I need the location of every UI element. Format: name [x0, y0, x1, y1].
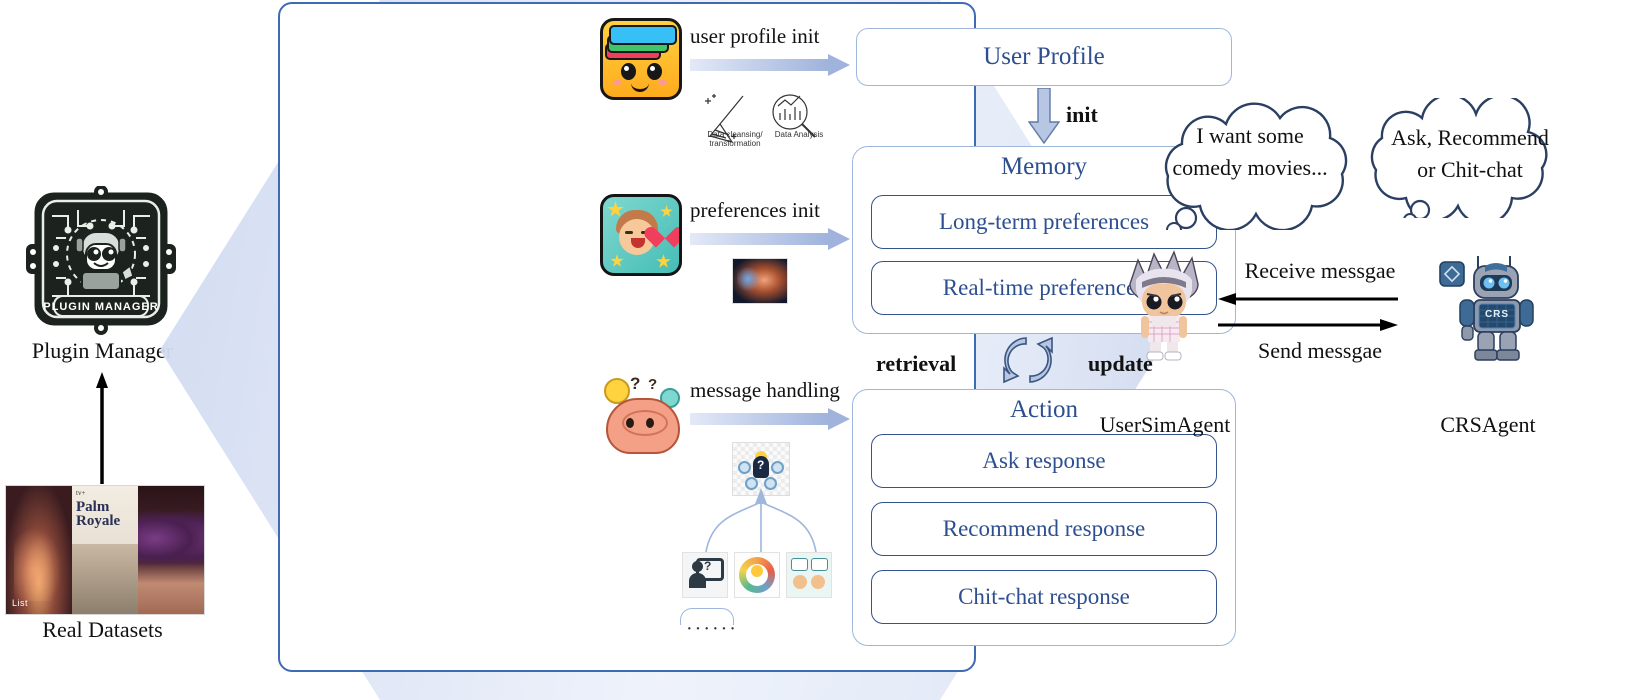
preferences-init-label: preferences init: [690, 198, 820, 223]
user-thought-line-2: comedy movies...: [1172, 155, 1327, 180]
poster-title: Palm Royale: [76, 500, 120, 528]
real-datasets-caption: Real Datasets: [0, 617, 205, 643]
ask-response-box[interactable]: Ask response: [871, 434, 1217, 488]
datasets-to-plugin-arrow: [95, 372, 109, 484]
user-sim-agent-caption: UserSimAgent: [1060, 412, 1270, 438]
crs-agent-caption: CRSAgent: [1398, 412, 1578, 438]
poster-challengers: CHALLENGERS: [138, 486, 204, 614]
crs-thought-line-1: Ask, Recommend: [1391, 125, 1549, 150]
receive-message-arrow: [1218, 292, 1398, 304]
send-message-label: Send messgae: [1230, 338, 1410, 364]
crs-badge-text: CRS: [1485, 309, 1509, 320]
message-handling-arrow: [690, 408, 850, 430]
retrieval-label: retrieval: [876, 351, 956, 377]
action-sources-connector: [676, 484, 846, 554]
init-label: init: [1066, 102, 1098, 128]
real-datasets-image: List tv+ Palm Royale CHALLENGERS: [5, 485, 205, 615]
poster-brand: tv+: [76, 489, 85, 497]
user-profile-init-label: user profile init: [690, 24, 819, 49]
recommend-response-box[interactable]: Recommend response: [871, 502, 1217, 556]
person-question-icon: [682, 552, 728, 598]
folder-face-icon: [600, 18, 682, 100]
retrieval-update-cycle-icon: [996, 332, 1060, 388]
user-profile-init-arrow: [690, 54, 850, 76]
ask-response-label: Ask response: [982, 448, 1105, 474]
user-thought-line-1: I want some: [1196, 123, 1304, 148]
poster-list-badge: List: [12, 598, 28, 608]
data-cleansing-note: Data cleansing/ transformation: [698, 130, 772, 148]
data-analysis-note: Data Analysis: [772, 130, 826, 139]
crs-agent-avatar: CRS: [1438, 248, 1534, 366]
chit-chat-response-label: Chit-chat response: [958, 584, 1130, 610]
idea-gift-ring-icon: [734, 552, 780, 598]
user-sim-agent-avatar: [1122, 250, 1206, 362]
real-time-preferences-label: Real-time preferences: [943, 275, 1145, 301]
preferences-init-arrow: [690, 228, 850, 250]
receive-message-label: Receive messgae: [1230, 258, 1410, 284]
brain-data-thumbnail: [732, 258, 788, 304]
user-thought-text: I want some comedy movies...: [1146, 120, 1354, 184]
two-people-chat-icon: [786, 552, 832, 598]
poster-palm-royale: tv+ Palm Royale: [72, 486, 138, 614]
chit-chat-response-box[interactable]: Chit-chat response: [871, 570, 1217, 624]
thinking-brain-icon: ??: [600, 372, 682, 454]
crs-thought-line-2: or Chit-chat: [1417, 157, 1523, 182]
user-profile-box[interactable]: User Profile: [856, 28, 1232, 86]
crs-thought-text: Ask, Recommend or Chit-chat: [1372, 122, 1568, 186]
poster-title-challengers: CHALLENGERS: [138, 588, 204, 598]
happy-heart-icon: [600, 194, 682, 276]
init-arrow: [1028, 88, 1060, 144]
poster-godzilla: List: [6, 486, 72, 614]
architecture-panel: user profile init Data cleansing/ transf…: [278, 2, 976, 672]
plugin-logo-text: PLUGIN MANAGER: [43, 301, 158, 313]
send-message-arrow: [1218, 318, 1398, 330]
long-term-preferences-label: Long-term preferences: [939, 209, 1149, 235]
user-profile-label: User Profile: [983, 43, 1105, 71]
ellipsis-label: ······: [686, 618, 738, 641]
message-handling-label: message handling: [690, 378, 840, 403]
recommend-response-label: Recommend response: [943, 516, 1145, 542]
plugin-manager-logo: PLUGIN MANAGER: [26, 186, 176, 336]
